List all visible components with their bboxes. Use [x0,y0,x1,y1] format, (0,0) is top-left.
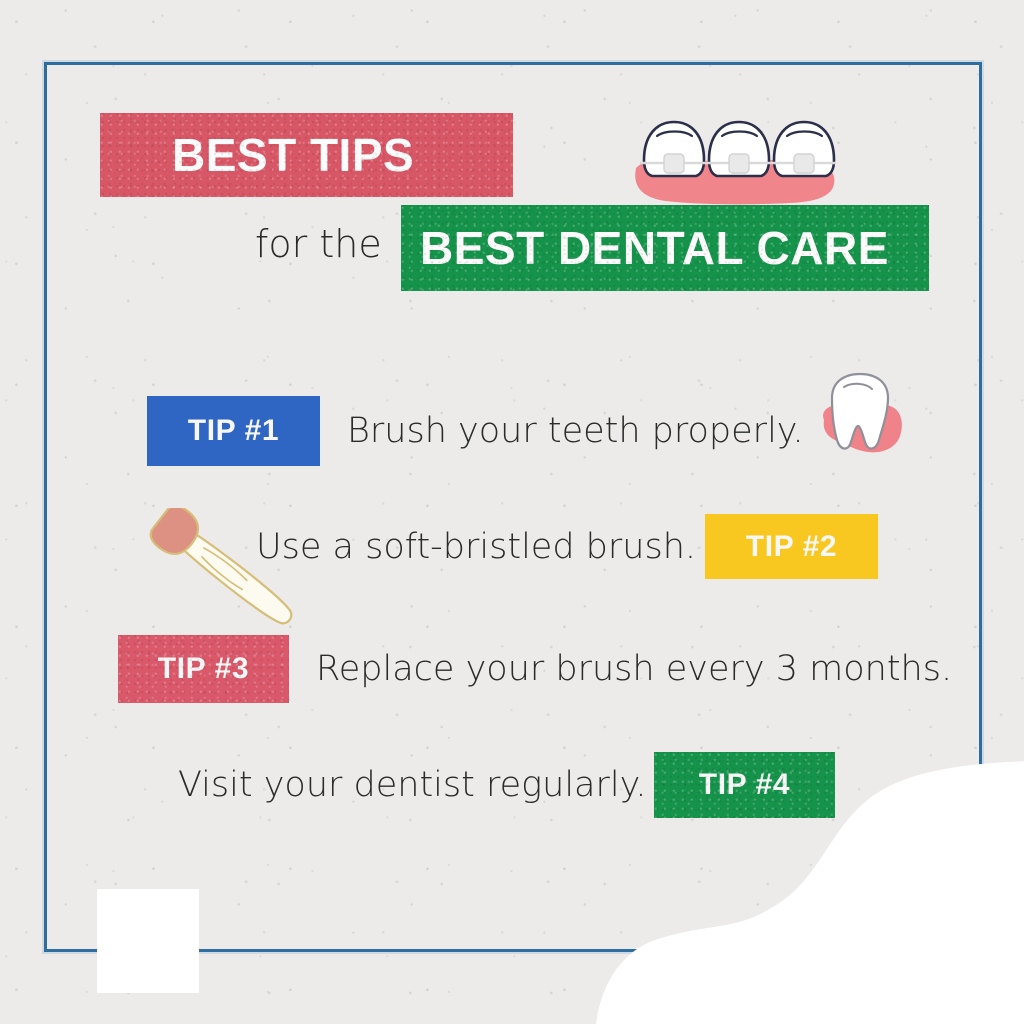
title-connector-text: for the [255,222,382,266]
tip-badge-2[interactable]: TIP #2 [705,514,878,579]
tooth-in-gum-icon [810,368,910,468]
tip-text-4: Visit your dentist regularly. [178,765,646,805]
teeth-with-braces-icon [630,112,842,208]
tip-badge-3[interactable]: TIP #3 [118,635,289,703]
tip-badge-3-label: TIP #3 [158,652,249,686]
tip-badge-1[interactable]: TIP #1 [147,396,320,466]
poster-canvas: BEST TIPS for the BEST DENTAL CARE TIP #… [0,0,1024,1024]
tip-text-1: Brush your teeth properly. [347,411,804,451]
white-square-accent [97,889,199,993]
title-line1-text: BEST TIPS [172,128,414,182]
bracket-2 [729,154,749,173]
bracket-3 [794,154,814,173]
tip-text-2: Use a soft-bristled brush. [256,527,696,567]
tip-text-3: Replace your brush every 3 months. [316,649,952,689]
tip-badge-1-label: TIP #1 [188,414,279,448]
title-banner-best-dental-care: BEST DENTAL CARE [401,205,929,291]
bracket-1 [664,154,684,173]
tip-badge-2-label: TIP #2 [746,530,837,564]
white-wave-shape [596,761,1024,1024]
title-banner-best-tips: BEST TIPS [100,113,513,197]
title-line2-text: BEST DENTAL CARE [420,221,889,275]
